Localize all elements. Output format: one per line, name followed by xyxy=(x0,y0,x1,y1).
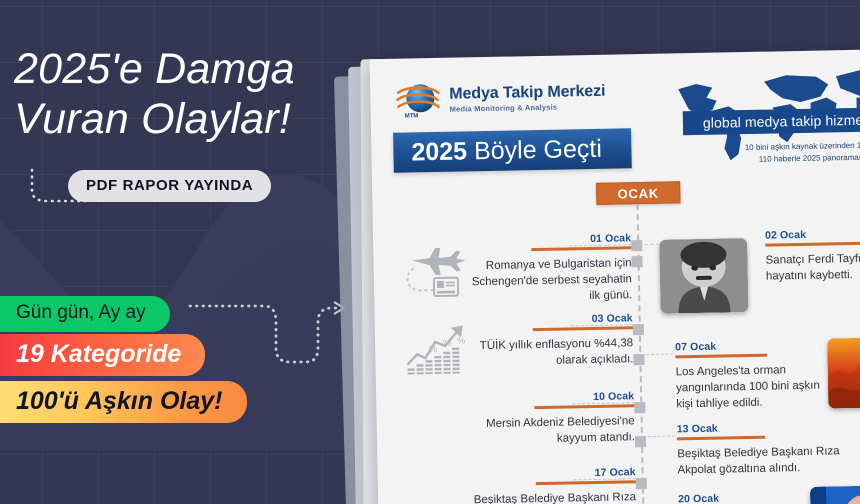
entry-date-rule xyxy=(531,246,631,251)
svg-text:%: % xyxy=(443,338,451,348)
report-document[interactable]: MTM Medya Takip Merkezi Media Monitoring… xyxy=(370,49,860,504)
timeline-node xyxy=(631,240,642,251)
entry-date-rule xyxy=(534,404,634,409)
entry-date-rule xyxy=(677,436,765,441)
entry-date-block: 20 Ocak xyxy=(678,491,818,504)
entry-17-ocak[interactable]: 17 Ocak Beşiktaş Belediye Başkanı Rıza A… xyxy=(456,466,637,504)
map-band-label: global medya takip hizme xyxy=(703,112,860,131)
entry-date-block: 01 Ocak xyxy=(469,232,631,252)
timeline-node xyxy=(631,256,642,267)
badge-gun-gun-ay-ay[interactable]: Gün gün, Ay ay xyxy=(0,296,170,332)
timeline-node xyxy=(633,354,644,365)
pdf-report-badge[interactable]: PDF RAPOR YAYINDA xyxy=(68,170,271,202)
entry-date: 13 Ocak xyxy=(677,423,718,436)
entry-date: 10 Ocak xyxy=(593,390,634,403)
timeline-node xyxy=(633,324,644,335)
badge-olay-label: 100'ü Aşkın Olay! xyxy=(16,387,223,416)
badge-19-kategoride[interactable]: 19 Kategoride xyxy=(0,334,205,376)
entry-connector xyxy=(639,244,659,245)
entry-text: Romanya ve Bulgaristan için Schengen'de … xyxy=(469,255,632,306)
svg-text:%: % xyxy=(457,335,465,345)
map-subtext: 10 bini aşkın kaynak üzerinden 19 farklı… xyxy=(675,137,860,167)
mtm-globe-logo-icon: MTM xyxy=(394,80,441,121)
entry-07-ocak[interactable]: 07 Ocak Los Angeles'ta orman yangınların… xyxy=(675,339,826,413)
entry-date-rule xyxy=(536,480,636,485)
entry-text: Mersin Akdeniz Belediyesi'ne kayyum atan… xyxy=(455,413,636,448)
badge-kategoride-label: 19 Kategoride xyxy=(16,340,181,369)
timeline-node xyxy=(636,478,647,489)
entry-date-block: 10 Ocak xyxy=(454,390,634,410)
entry-date-block: 03 Ocak xyxy=(471,312,633,332)
entry-date-rule xyxy=(533,326,633,331)
report-title-year: 2025 xyxy=(411,137,467,167)
entry-date-rule xyxy=(675,354,767,359)
entry-date-block: 07 Ocak xyxy=(675,339,825,359)
entry-10-ocak[interactable]: 10 Ocak Mersin Akdeniz Belediyesi'ne kay… xyxy=(454,390,635,448)
wildfire-photo xyxy=(827,337,860,409)
badge-100-askin-olay[interactable]: 100'ü Aşkın Olay! xyxy=(0,381,247,423)
entry-date-block: 02 Ocak xyxy=(765,227,860,246)
entry-13-ocak[interactable]: 13 Ocak Beşiktaş Belediye Başkanı Rıza A… xyxy=(677,420,858,478)
entry-02-ocak[interactable]: 02 Ocak Sanatçı Ferdi Tayfur hayatını ka… xyxy=(765,227,860,284)
entry-20-ocak[interactable]: 20 Ocak Ekrem İmamoğlu, xyxy=(678,491,819,504)
entry-date-rule xyxy=(765,242,860,247)
svg-text:%: % xyxy=(429,344,437,354)
month-badge-ocak: OCAK xyxy=(596,181,680,205)
brand-tagline: Media Monitoring & Analysis xyxy=(450,102,606,114)
page-title: 2025'e Damga Vuran Olaylar! xyxy=(14,44,374,144)
entry-text: Beşiktaş Belediye Başkanı Rıza Akpolat t… xyxy=(456,489,637,504)
report-title-bar: 2025 Böyle Geçti xyxy=(393,128,632,173)
svg-text:MTM: MTM xyxy=(405,113,419,119)
badge-gun-gun-label: Gün gün, Ay ay xyxy=(16,302,146,324)
map-band: global medya takip hizme xyxy=(683,105,860,135)
entry-date: 01 Ocak xyxy=(590,232,631,245)
brand-lockup: MTM Medya Takip Merkezi Media Monitoring… xyxy=(394,77,606,121)
entry-connector xyxy=(643,435,675,437)
timeline-node xyxy=(634,402,645,413)
report-title-rest: Böyle Geçti xyxy=(474,134,602,165)
entry-03-ocak[interactable]: 03 Ocak TÜİK yıllık enflasyonu %44,38 ol… xyxy=(471,312,634,370)
entry-text: Beşiktaş Belediye Başkanı Rıza Akpolat g… xyxy=(677,443,858,478)
entry-date: 20 Ocak xyxy=(678,493,719,504)
ferdi-tayfur-photo xyxy=(659,238,748,314)
dashed-arrow-connector-icon xyxy=(188,292,348,382)
entry-date: 02 Ocak xyxy=(765,229,806,242)
entry-text: TÜİK yıllık enflasyonu %44,38 olarak açı… xyxy=(471,335,634,370)
entry-date-block: 13 Ocak xyxy=(677,420,857,440)
imamoglu-photo xyxy=(810,485,860,504)
poster-canvas: 2025'e Damga Vuran Olaylar! PDF RAPOR YA… xyxy=(0,0,860,504)
entry-text: Los Angeles'ta orman yangınlarında 100 b… xyxy=(676,362,827,413)
timeline-node xyxy=(635,436,646,447)
airplane-visa-icon xyxy=(399,243,470,300)
entry-01-ocak[interactable]: 01 Ocak Romanya ve Bulgaristan için Sche… xyxy=(469,232,632,306)
brand-name: Medya Takip Merkezi xyxy=(449,83,605,104)
entry-date: 03 Ocak xyxy=(592,312,633,325)
entry-connector xyxy=(641,353,673,355)
entry-text: Sanatçı Ferdi Tayfur hayatını kaybetti. xyxy=(765,250,860,284)
world-map-block: global medya takip hizme 10 bini aşkın k… xyxy=(660,58,860,172)
entry-date: 07 Ocak xyxy=(675,341,716,354)
inflation-chart-icon: % % % xyxy=(405,323,472,374)
entry-date: 17 Ocak xyxy=(595,466,636,479)
entry-date-block: 17 Ocak xyxy=(456,466,636,486)
hero-block: 2025'e Damga Vuran Olaylar! xyxy=(14,44,374,144)
